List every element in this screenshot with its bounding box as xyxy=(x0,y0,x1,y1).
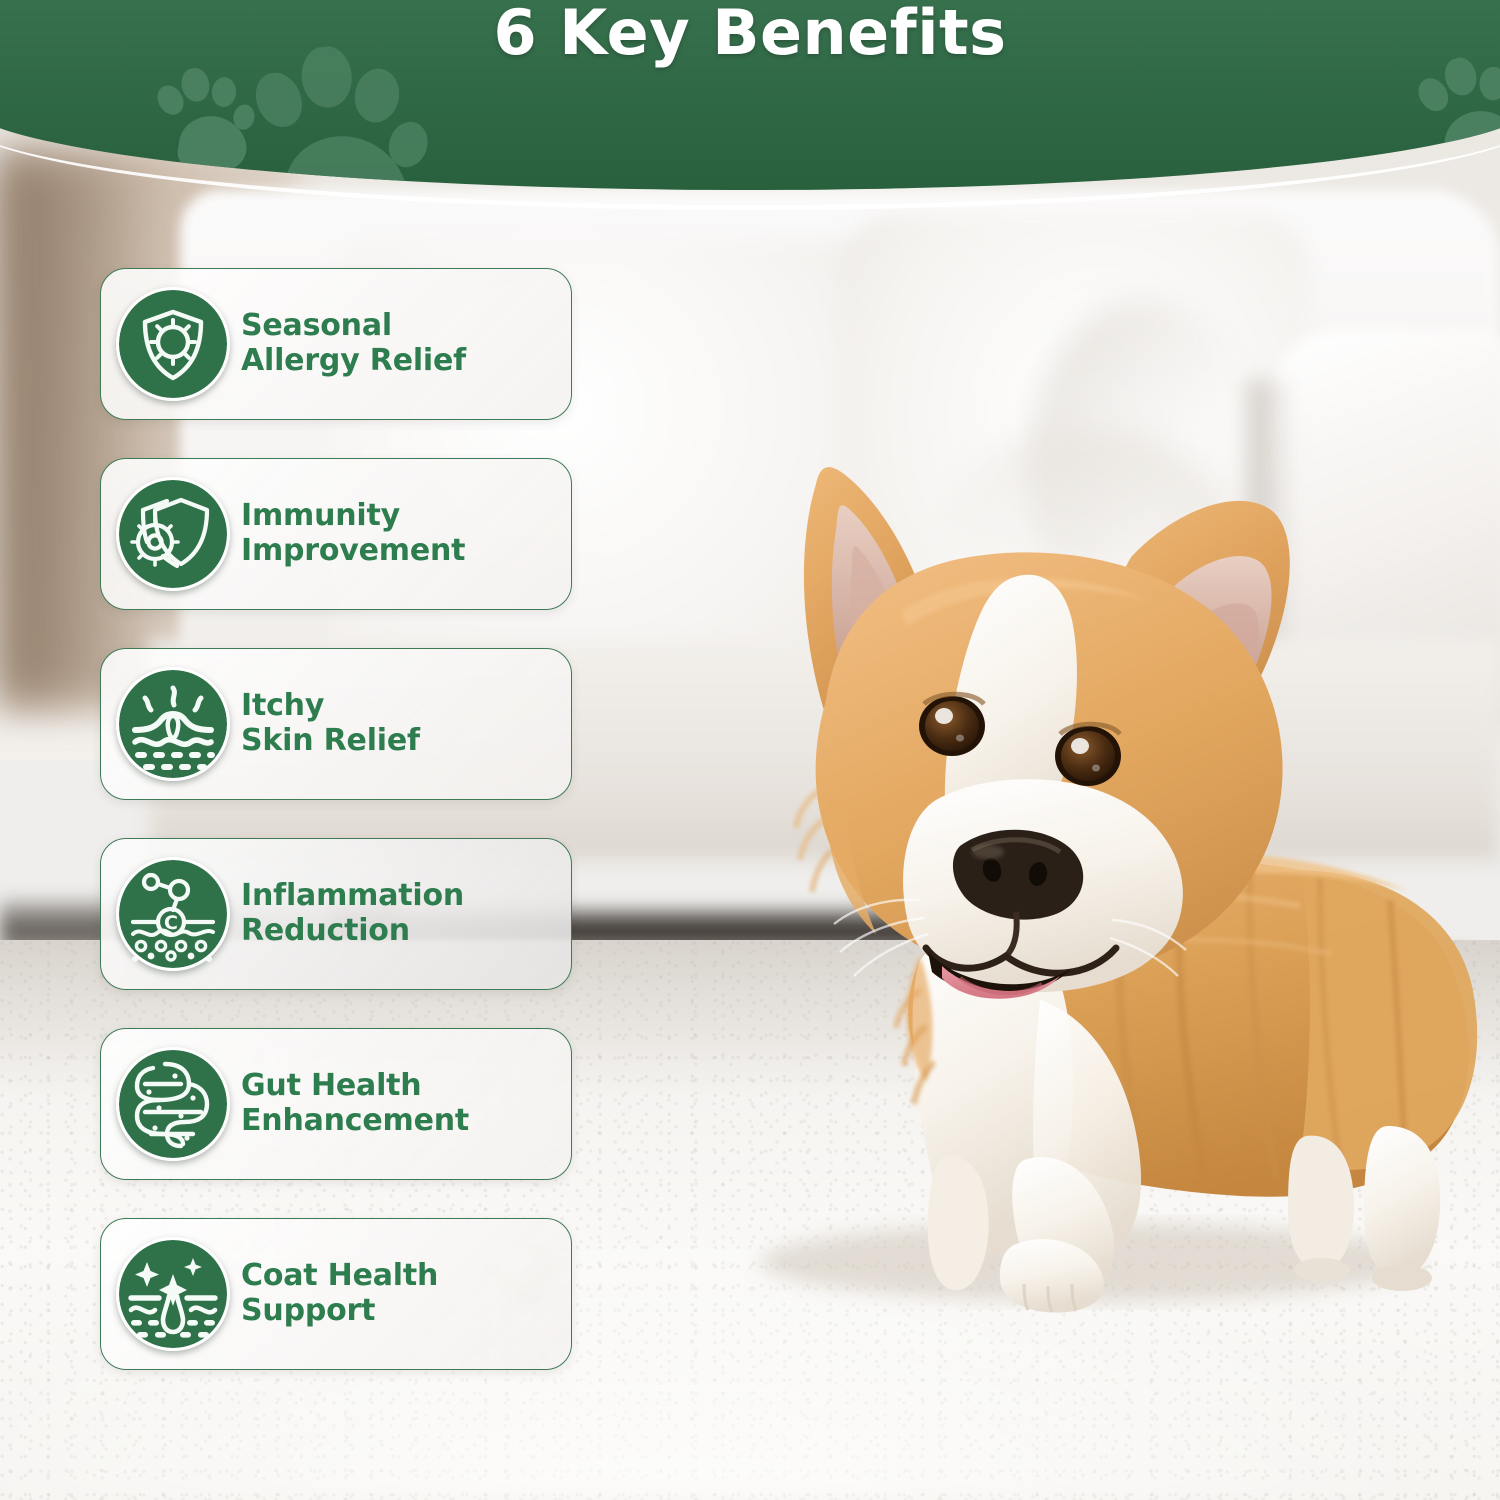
benefit-card-immunity-improvement[interactable]: Immunity Improvement xyxy=(100,458,572,610)
benefit-card-gut-health-enhancement[interactable]: Gut Health Enhancement xyxy=(100,1028,572,1180)
benefits-list: Seasonal Allergy Relief xyxy=(100,268,572,1408)
benefit-label: Immunity Improvement xyxy=(241,499,465,569)
hair-follicle-sparkle-icon xyxy=(115,1236,231,1352)
benefit-label: Seasonal Allergy Relief xyxy=(241,309,466,379)
svg-text:C: C xyxy=(164,912,178,934)
page-title: 6 Key Benefits xyxy=(0,0,1500,69)
itchy-skin-icon xyxy=(115,666,231,782)
benefit-card-inflammation-reduction[interactable]: C Infl xyxy=(100,838,572,990)
benefit-card-itchy-skin-relief[interactable]: Itchy Skin Relief xyxy=(100,648,572,800)
header-banner: 6 Key Benefits xyxy=(0,0,1500,190)
shield-virus-icon xyxy=(115,476,231,592)
benefit-label: Inflammation Reduction xyxy=(241,879,464,949)
molecule-skin-icon: C xyxy=(115,856,231,972)
product-benefits-infographic: 6 Key Benefits xyxy=(0,0,1500,1500)
intestine-icon xyxy=(115,1046,231,1162)
benefit-card-coat-health-support[interactable]: Coat Health Support xyxy=(100,1218,572,1370)
benefit-label: Coat Health Support xyxy=(241,1259,438,1329)
shield-allergen-icon xyxy=(115,286,231,402)
benefit-label: Gut Health Enhancement xyxy=(241,1069,469,1139)
benefit-label: Itchy Skin Relief xyxy=(241,689,420,759)
benefit-card-seasonal-allergy-relief[interactable]: Seasonal Allergy Relief xyxy=(100,268,572,420)
corgi-dog xyxy=(620,400,1500,1330)
